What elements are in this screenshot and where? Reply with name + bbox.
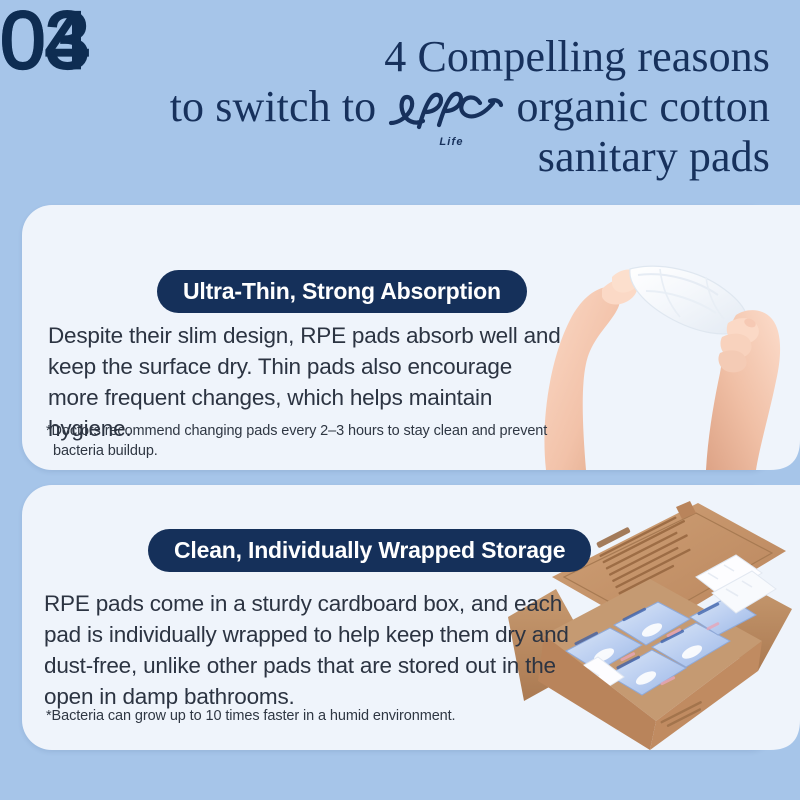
card-03-title-badge: Ultra-Thin, Strong Absorption [157,270,527,313]
headline-line-1: 4 Compelling reasons [40,32,770,82]
card-04-body-text: RPE pads come in a sturdy cardboard box,… [44,588,584,712]
headline-line-2: to switch to Life organic cotton [40,82,770,132]
infographic-page: 4 Compelling reasons to switch to Life o… [0,0,800,800]
card-03-footnote: *Doctors recommend changing pads every 2… [46,421,553,461]
headline-line-3: sanitary pads [40,132,770,182]
card-03-title-label: Ultra-Thin, Strong Absorption [183,278,501,305]
card-04-title-badge: Clean, Individually Wrapped Storage [148,529,591,572]
page-title: 4 Compelling reasons to switch to Life o… [40,32,770,182]
headline-line-2-before: to switch to [170,82,377,131]
card-04-number: 04 [0,0,89,82]
headline-line-2-after: organic cotton [516,82,770,131]
rpe-brand-logo: Life [387,87,505,131]
card-04-footnote: *Bacteria can grow up to 10 times faster… [46,706,573,726]
rpe-logo-sub-label: Life [439,117,463,167]
card-04-title-label: Clean, Individually Wrapped Storage [174,537,565,564]
